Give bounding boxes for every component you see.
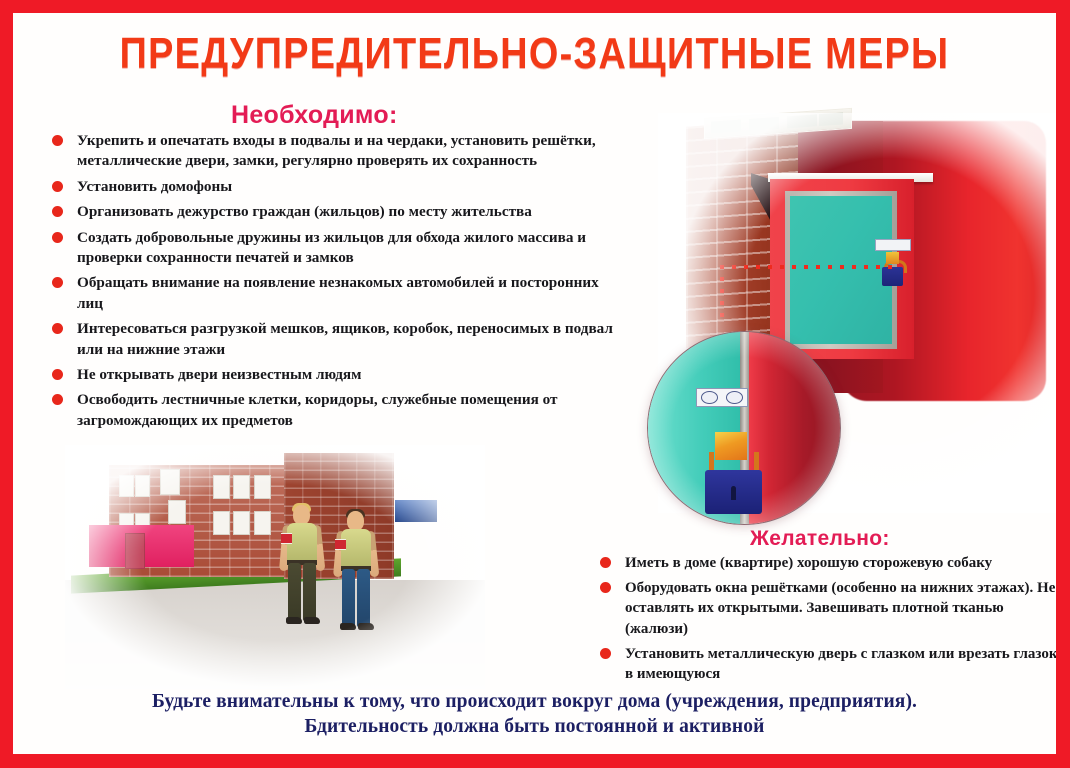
list-item: Установить домофоны (50, 177, 625, 197)
pavement (65, 580, 485, 689)
poster-red-border: ПРЕДУПРЕДИТЕЛЬНО-ЗАЩИТНЫЕ МЕРЫ Необходим… (0, 0, 1070, 768)
white-seal-sticker (696, 388, 748, 407)
necessary-measures-list: Укрепить и опечатать входы в подвалы и н… (50, 131, 625, 436)
blue-padlock-icon (705, 432, 763, 514)
footer-call-to-action: Будьте внимательны к тому, что происходи… (13, 689, 1056, 739)
door-frame (785, 191, 897, 349)
teal-metal-door (790, 196, 892, 344)
blue-roof-element (395, 500, 437, 522)
window (119, 475, 134, 497)
window (254, 511, 271, 535)
list-item: Обращать внимание на появление незнакомы… (50, 273, 625, 314)
red-armband (335, 539, 346, 550)
window (213, 511, 230, 535)
patrol-volunteer (337, 511, 375, 633)
citizen-patrol-photo (65, 445, 485, 689)
section-heading-desirable: Желательно: (750, 527, 890, 551)
desirable-measures-list: Иметь в доме (квартире) хорошую сторожев… (598, 553, 1056, 689)
list-item: Иметь в доме (квартире) хорошую сторожев… (598, 553, 1056, 573)
list-item: Оборудовать окна решётками (особенно на … (598, 578, 1056, 639)
dotted-pointer-line-vertical (720, 265, 724, 323)
paper-seal (875, 239, 911, 251)
section-heading-necessary: Необходимо: (231, 101, 398, 129)
stamp-mark-icon (726, 391, 743, 404)
entrance-door (125, 533, 145, 569)
window (160, 469, 180, 495)
window (233, 475, 250, 499)
list-item: Организовать дежурство граждан (жильцов)… (50, 202, 625, 222)
list-item: Создать добровольные дружины из жильцов … (50, 228, 625, 269)
keyhole-icon (731, 486, 736, 500)
window (233, 511, 250, 535)
dotted-pointer-line-horizontal (720, 265, 898, 269)
padlock-icon (882, 252, 904, 288)
list-item: Освободить лестничные клетки, коридоры, … (50, 390, 625, 431)
stamp-mark-icon (701, 391, 718, 404)
list-item: Установить металлическую дверь с глазком… (598, 644, 1056, 684)
patrol-volunteer (283, 505, 321, 627)
page-title: ПРЕДУПРЕДИТЕЛЬНО-ЗАЩИТНЫЕ МЕРЫ (86, 30, 983, 78)
list-item: Не открывать двери неизвестным людям (50, 365, 625, 385)
window (213, 475, 230, 499)
magnified-padlock-and-seal (647, 331, 841, 525)
window (135, 475, 150, 497)
window (254, 475, 271, 499)
window (168, 500, 186, 524)
footer-line-2: Бдительность должна быть постоянной и ак… (13, 714, 1056, 739)
list-item: Интересоваться разгрузкой мешков, ящиков… (50, 319, 625, 360)
list-item: Укрепить и опечатать входы в подвалы и н… (50, 131, 625, 172)
poster-sheet: ПРЕДУПРЕДИТЕЛЬНО-ЗАЩИТНЫЕ МЕРЫ Необходим… (13, 13, 1056, 754)
orange-hasp (715, 432, 747, 460)
footer-line-1: Будьте внимательны к тому, что происходи… (13, 689, 1056, 714)
red-armband (281, 533, 292, 544)
